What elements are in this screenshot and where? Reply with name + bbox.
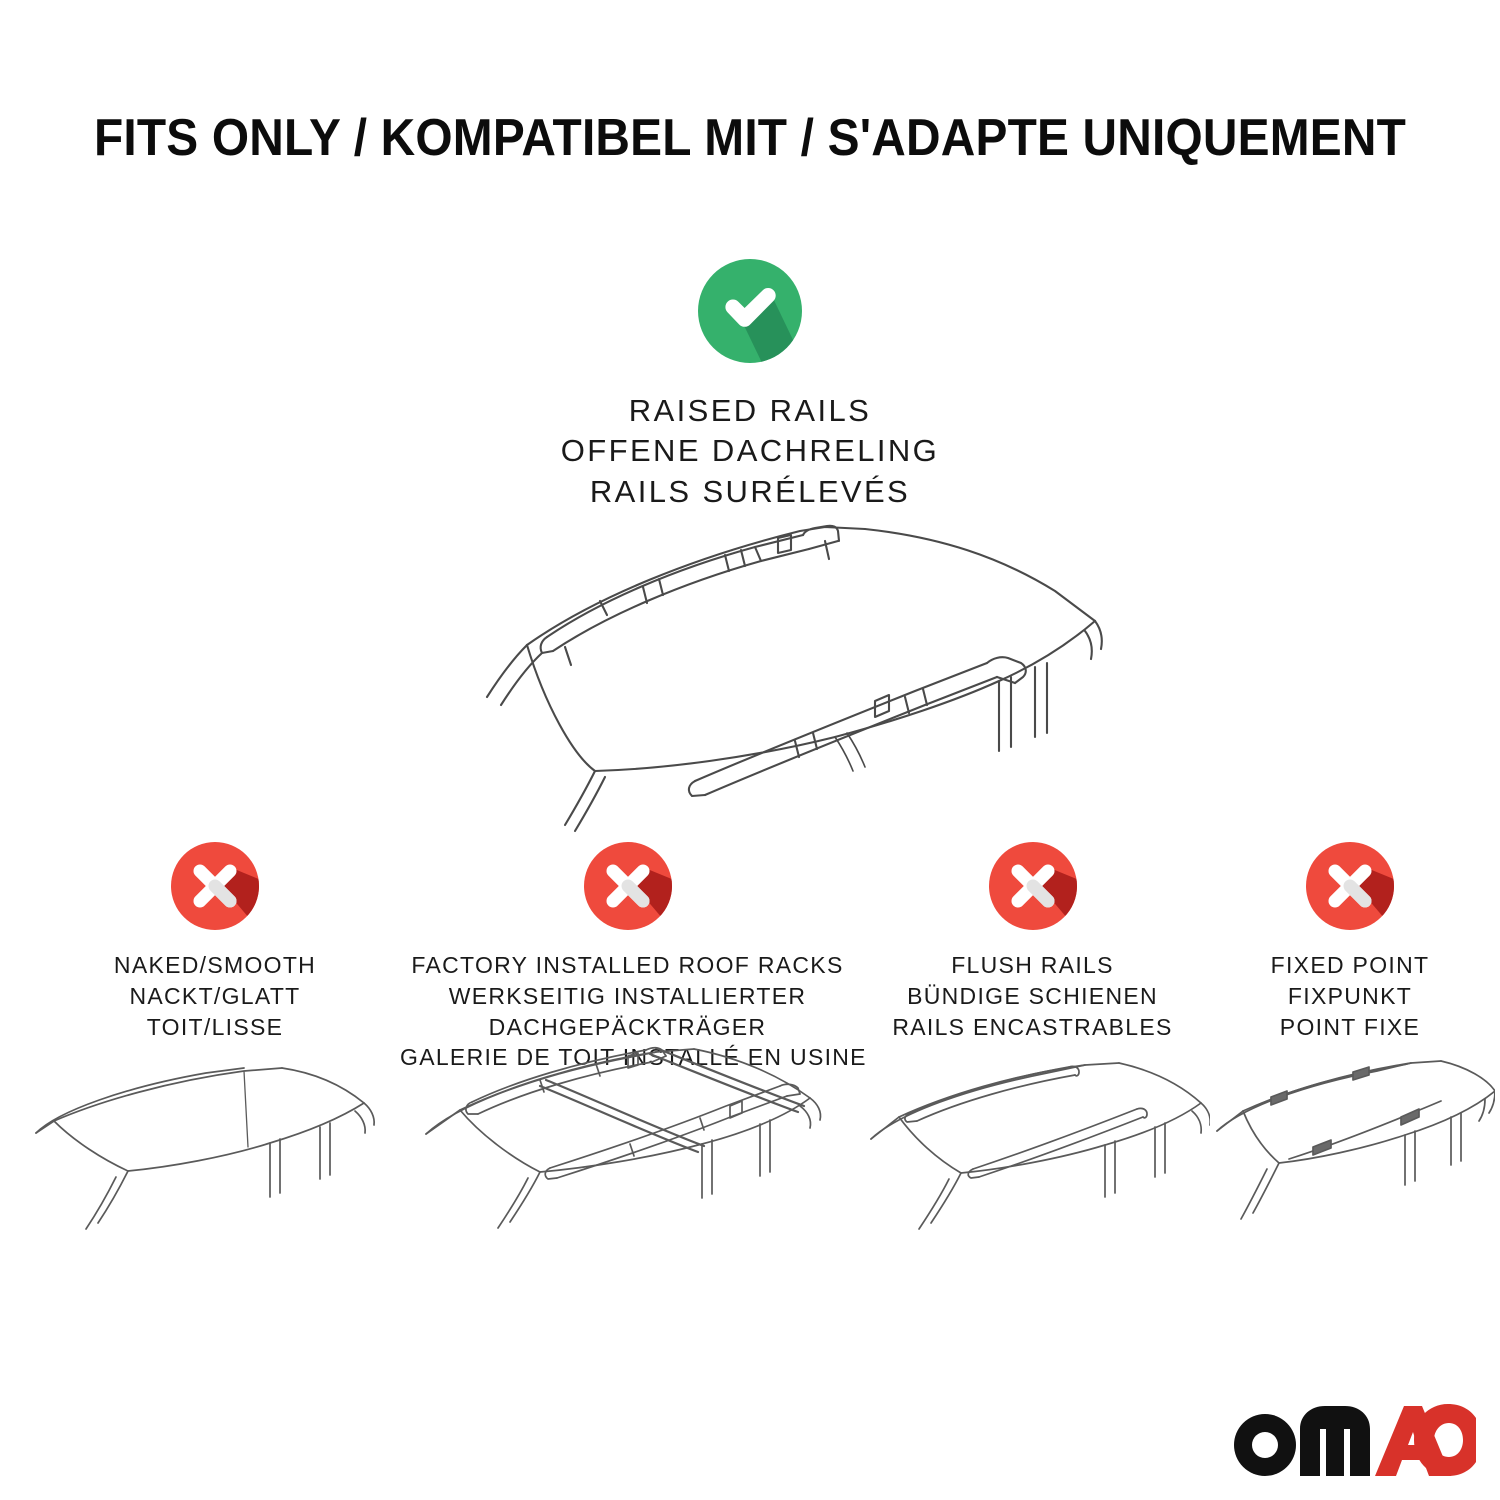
- caption-line: NAKED/SMOOTH: [30, 950, 400, 981]
- caption-line: FLUSH RAILS: [855, 950, 1210, 981]
- caption-line: NACKT/GLATT: [30, 981, 400, 1012]
- incompatible-caption: FLUSH RAILS BÜNDIGE SCHIENEN RAILS ENCAS…: [855, 950, 1210, 1042]
- x-circle-icon: [169, 840, 261, 932]
- caption-line: FIXED POINT: [1205, 950, 1495, 981]
- incompatible-item-flush-rails: FLUSH RAILS BÜNDIGE SCHIENEN RAILS ENCAS…: [855, 840, 1210, 1042]
- car-roof-fixed-point-illustration: [1205, 1055, 1495, 1255]
- incompatible-item-fixed-point: FIXED POINT FIXPUNKT POINT FIXE: [1205, 840, 1495, 1042]
- car-roof-naked-smooth-illustration: [30, 1055, 400, 1255]
- incompatible-item-factory-roof-racks: FACTORY INSTALLED ROOF RACKS WERKSEITIG …: [400, 840, 855, 1073]
- compatible-section: RAISED RAILS OFFENE DACHRELING RAILS SUR…: [0, 255, 1500, 512]
- caption-line: OFFENE DACHRELING: [0, 431, 1500, 471]
- page-title: FITS ONLY / KOMPATIBEL MIT / S'ADAPTE UN…: [60, 108, 1440, 168]
- car-roof-factory-roof-racks-illustration: [400, 1040, 855, 1255]
- car-roof-flush-rails-illustration: [855, 1055, 1210, 1255]
- incompatible-item-naked-smooth: NAKED/SMOOTH NACKT/GLATT TOIT/LISSE: [30, 840, 400, 1042]
- car-roof-with-raised-rails-illustration: [395, 505, 1125, 835]
- x-circle-icon: [582, 840, 674, 932]
- x-circle-icon: [1304, 840, 1396, 932]
- caption-line: BÜNDIGE SCHIENEN: [855, 981, 1210, 1012]
- caption-line: FACTORY INSTALLED ROOF RACKS: [400, 950, 855, 981]
- incompatible-caption: FIXED POINT FIXPUNKT POINT FIXE: [1205, 950, 1495, 1042]
- check-circle-icon: [694, 255, 806, 367]
- caption-line: POINT FIXE: [1205, 1012, 1495, 1043]
- incompatible-caption: NAKED/SMOOTH NACKT/GLATT TOIT/LISSE: [30, 950, 400, 1042]
- caption-line: RAISED RAILS: [0, 391, 1500, 431]
- caption-line: RAILS ENCASTRABLES: [855, 1012, 1210, 1043]
- omac-logo: [1232, 1404, 1476, 1478]
- compatible-caption: RAISED RAILS OFFENE DACHRELING RAILS SUR…: [0, 391, 1500, 512]
- caption-line: WERKSEITIG INSTALLIERTER: [400, 981, 855, 1012]
- caption-line: DACHGEPÄCKTRÄGER: [400, 1012, 855, 1043]
- caption-line: FIXPUNKT: [1205, 981, 1495, 1012]
- caption-line: TOIT/LISSE: [30, 1012, 400, 1043]
- incompatible-section: NAKED/SMOOTH NACKT/GLATT TOIT/LISSE: [0, 840, 1500, 1310]
- x-circle-icon: [987, 840, 1079, 932]
